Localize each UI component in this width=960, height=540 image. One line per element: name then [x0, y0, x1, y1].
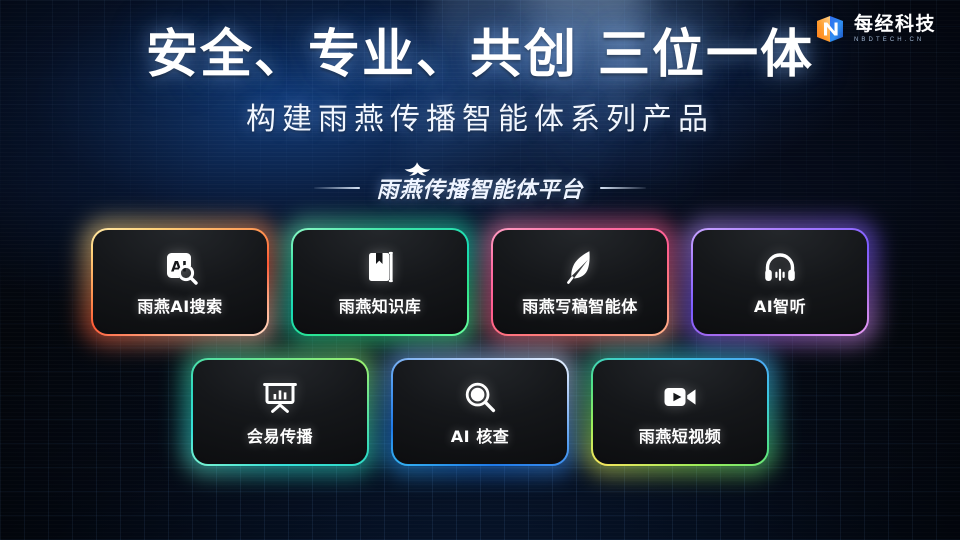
swift-bird-icon [404, 161, 430, 177]
video-camera-icon [660, 377, 700, 417]
knowledge-book-icon [360, 247, 400, 287]
product-card-label: AI智听 [754, 293, 806, 317]
n-diamond-logo-icon [815, 14, 845, 44]
product-card-label: 雨燕短视频 [639, 423, 722, 447]
product-card-meeting-broadcast[interactable]: 会易传播 [191, 358, 369, 466]
product-card-knowledge-base[interactable]: 雨燕知识库 [291, 228, 469, 336]
brand-name-cn: 每经科技 [854, 15, 936, 35]
platform-name: 雨燕传播智能体平台 [376, 178, 583, 203]
product-card-label: AI 核查 [451, 423, 509, 447]
product-card-label: 雨燕写稿智能体 [522, 293, 638, 317]
divider-left [314, 187, 360, 189]
product-card-body: AI智听 [693, 230, 867, 334]
product-card-label: 会易传播 [247, 423, 313, 447]
product-card-body: 雨燕写稿智能体 [493, 230, 667, 334]
product-card-writing-agent[interactable]: 雨燕写稿智能体 [491, 228, 669, 336]
product-card-label: 雨燕AI搜索 [137, 293, 222, 317]
product-card-row-2: 会易传播 AI 核查 [0, 358, 960, 466]
platform-name-wrap: 雨燕传播智能体平台 [376, 172, 583, 204]
product-card-row-1: AI 雨燕AI搜索 [0, 228, 960, 336]
platform-banner: 雨燕传播智能体平台 [0, 172, 960, 204]
product-card-ai-listening[interactable]: AI智听 [691, 228, 869, 336]
product-card-body: 会易传播 [193, 360, 367, 464]
product-card-body: AI 核查 [393, 360, 567, 464]
product-card-short-video[interactable]: 雨燕短视频 [591, 358, 769, 466]
ai-search-icon: AI [160, 247, 200, 287]
feather-quill-icon [560, 247, 600, 287]
brand-name-en: NBDTECH.CN [854, 37, 936, 43]
presentation-chart-icon [260, 377, 300, 417]
product-card-body: 雨燕短视频 [593, 360, 767, 464]
product-card-body: 雨燕知识库 [293, 230, 467, 334]
product-card-label: 雨燕知识库 [339, 293, 422, 317]
slide-root: 每经科技 NBDTECH.CN 安全、专业、共创 三位一体 构建雨燕传播智能体系… [0, 0, 960, 540]
product-card-ai-search[interactable]: AI 雨燕AI搜索 [91, 228, 269, 336]
product-card-ai-factcheck[interactable]: AI 核查 [391, 358, 569, 466]
product-card-grid: AI 雨燕AI搜索 [0, 228, 960, 466]
product-card-body: AI 雨燕AI搜索 [93, 230, 267, 334]
brand-logo[interactable]: 每经科技 NBDTECH.CN [815, 14, 936, 44]
magnifier-icon [460, 377, 500, 417]
divider-right [600, 187, 646, 189]
headphones-icon [760, 247, 800, 287]
page-subtitle: 构建雨燕传播智能体系列产品 [0, 94, 960, 138]
brand-logo-text: 每经科技 NBDTECH.CN [854, 15, 936, 44]
